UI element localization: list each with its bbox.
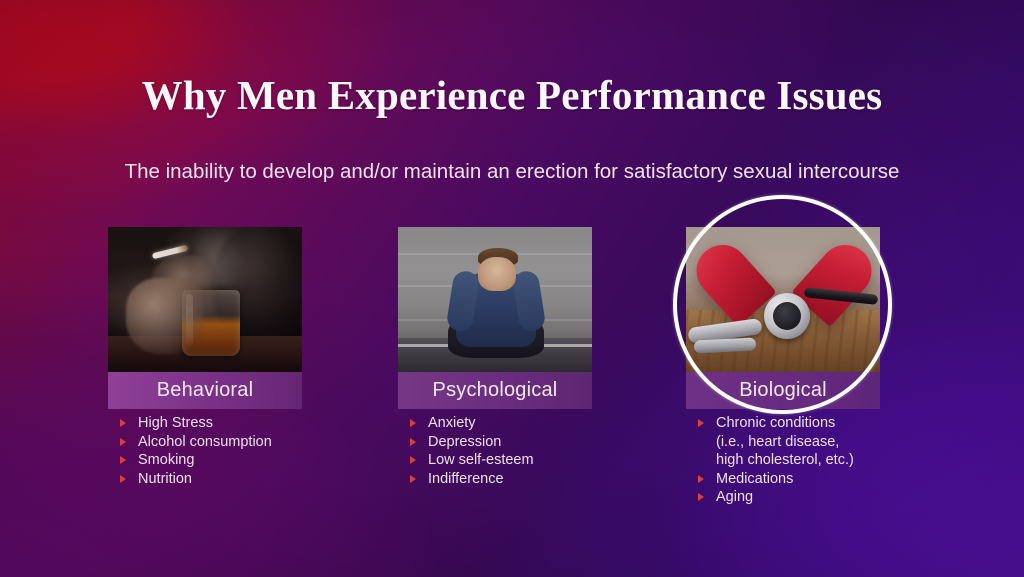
arrow-bullet-icon — [410, 438, 416, 446]
bullet-list-behavioral: High Stress Alcohol consumption Smoking … — [108, 414, 338, 488]
card-label-text: Biological — [739, 379, 827, 402]
bullet-list-psychological: Anxiety Depression Low self-esteem Indif… — [398, 414, 628, 488]
list-item: High Stress — [108, 414, 338, 433]
bullet-text: Alcohol consumption — [138, 433, 338, 452]
stethoscope-chestpiece-shape — [764, 293, 810, 339]
list-item: Aging — [686, 488, 916, 507]
page-title: Why Men Experience Performance Issues — [0, 71, 1024, 119]
arrow-bullet-icon — [698, 493, 704, 501]
list-item: Indifference — [398, 470, 628, 489]
arrow-bullet-icon — [120, 475, 126, 483]
arrow-bullet-icon — [410, 419, 416, 427]
list-item: Nutrition — [108, 470, 338, 489]
card-psychological[interactable]: Psychological Anxiety Depression Low sel… — [398, 227, 592, 409]
list-item: Low self-esteem — [398, 451, 628, 470]
card-label-text: Psychological — [433, 379, 558, 402]
behavioral-image — [108, 227, 302, 372]
card-behavioral[interactable]: Behavioral High Stress Alcohol consumpti… — [108, 227, 302, 409]
presentation-slide: Why Men Experience Performance Issues Th… — [0, 0, 1024, 577]
bullet-text: Nutrition — [138, 470, 338, 489]
biological-image — [686, 227, 880, 372]
bullet-text-continuation: high cholesterol, etc.) — [716, 451, 916, 470]
list-item: Smoking — [108, 451, 338, 470]
person-hands-shape — [478, 257, 516, 291]
cards-row: Behavioral High Stress Alcohol consumpti… — [0, 227, 1024, 547]
arrow-bullet-icon — [120, 456, 126, 464]
bullet-text: Smoking — [138, 451, 338, 470]
arrow-bullet-icon — [698, 475, 704, 483]
hand-shape — [126, 278, 204, 354]
bullet-text: High Stress — [138, 414, 338, 433]
list-item: Medications — [686, 470, 916, 489]
arrow-bullet-icon — [410, 456, 416, 464]
list-item: Chronic conditions (i.e., heart disease,… — [686, 414, 916, 470]
bullet-text: Indifference — [428, 470, 628, 489]
bullet-text: Chronic conditions — [716, 414, 916, 433]
list-item: Anxiety — [398, 414, 628, 433]
list-item: Alcohol consumption — [108, 433, 338, 452]
bullet-text: Medications — [716, 470, 916, 489]
bullet-text-continuation: (i.e., heart disease, — [716, 433, 916, 452]
card-label-text: Behavioral — [157, 379, 254, 402]
bullet-text: Anxiety — [428, 414, 628, 433]
psychological-image — [398, 227, 592, 372]
card-label-behavioral: Behavioral — [108, 372, 302, 409]
bullet-text: Aging — [716, 488, 916, 507]
arrow-bullet-icon — [120, 419, 126, 427]
card-label-biological: Biological — [686, 372, 880, 409]
bullet-text: Depression — [428, 433, 628, 452]
arrow-bullet-icon — [698, 419, 704, 427]
bullet-text: Low self-esteem — [428, 451, 628, 470]
arrow-bullet-icon — [410, 475, 416, 483]
slide-subtitle: The inability to develop and/or maintain… — [92, 156, 932, 187]
card-biological[interactable]: Biological Chronic conditions (i.e., hea… — [686, 227, 880, 409]
card-label-psychological: Psychological — [398, 372, 592, 409]
list-item: Depression — [398, 433, 628, 452]
bullet-list-biological: Chronic conditions (i.e., heart disease,… — [686, 414, 916, 507]
arrow-bullet-icon — [120, 438, 126, 446]
